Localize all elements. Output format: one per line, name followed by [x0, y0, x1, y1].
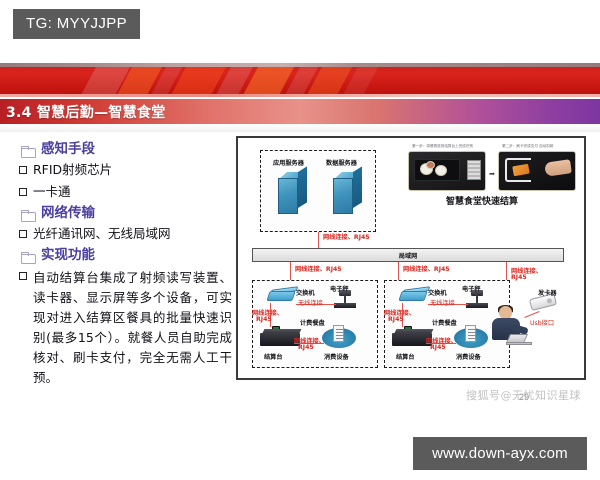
slide-canvas: TG: MYYJJPP 3.4 智慧后勤—智慧食堂 感知手段 RFID射频芯片 …	[0, 0, 600, 480]
wireless-label-1: 无线连接	[298, 298, 323, 307]
consumption-device-icon	[322, 328, 356, 348]
square-bullet-icon	[19, 230, 27, 238]
photo-tray-settlement	[408, 151, 486, 191]
link-label-server: 网线连接、RJ45	[323, 232, 370, 241]
outline-heading-perception: 感知手段	[18, 142, 232, 157]
outline-item-label: RFID射频芯片	[33, 162, 112, 178]
folder-icon	[21, 252, 34, 262]
photo-step2-caption: 第二步：刷卡完成支付 自动扣款	[502, 144, 553, 149]
square-bullet-icon	[19, 188, 27, 196]
operator-with-laptop-icon	[488, 306, 532, 350]
link-line	[398, 262, 399, 280]
link-label-zone2: 网线连接、RJ45	[403, 264, 450, 273]
usb-link-label: Usb接口	[530, 318, 554, 327]
footer-url-label: www.down-ayx.com	[432, 445, 568, 462]
bowl-icon	[435, 165, 447, 176]
scale-label-2: 电子秤	[462, 284, 481, 293]
title-underlay	[0, 124, 600, 132]
folder-icon	[21, 146, 34, 156]
link-label-counter1-b: RJ45	[256, 316, 272, 323]
switch-label-2: 交换机	[428, 288, 447, 297]
slide-page-number: 29	[519, 392, 529, 402]
outline-column: 感知手段 RFID射频芯片 一卡通 网络传输 光纤通讯网、无线局域网 实现功能 …	[18, 140, 232, 394]
electronic-scale-icon	[334, 290, 356, 312]
architecture-diagram-panel: 应用服务器 数据服务器 第一步：将餐具放到结算台上完成识别 第二步：刷卡完成支付…	[236, 136, 586, 380]
square-bullet-icon	[19, 272, 27, 280]
link-label-device2-b: RJ45	[430, 344, 446, 351]
server-cube-icon	[278, 172, 308, 217]
photo-card-swipe	[498, 151, 576, 191]
arrow-icon: ➡	[489, 170, 495, 178]
link-line	[318, 232, 319, 248]
switch-label-1: 交换机	[296, 288, 315, 297]
link-line	[290, 262, 291, 280]
electronic-scale-icon	[466, 290, 488, 312]
scale-label-1: 电子秤	[330, 284, 349, 293]
outline-item-label: 一卡通	[33, 184, 71, 200]
outline-heading-label: 实现功能	[41, 248, 95, 263]
hand-icon	[544, 159, 572, 176]
link-label-zone1: 网线连接、RJ45	[295, 264, 342, 273]
square-bullet-icon	[19, 166, 27, 174]
reader-panel	[467, 160, 481, 180]
lan-label: 局域网	[399, 251, 418, 260]
folder-icon	[21, 210, 34, 220]
outline-heading-network: 网络传输	[18, 206, 232, 221]
outline-paragraph-settlement: 自动结算台集成了射频读写装置、读卡器、显示屏等多个设备，可实现对进入结算区餐具的…	[18, 268, 232, 388]
slide-title-bar: 3.4 智慧后勤—智慧食堂	[0, 99, 600, 124]
photo-caption: 智慧食堂快速结算	[446, 194, 518, 207]
bowl-icon	[426, 161, 435, 169]
decorative-banner	[0, 63, 600, 97]
tray-label-2: 计费餐盘	[432, 318, 457, 327]
outline-heading-functions: 实现功能	[18, 248, 232, 263]
switch-icon	[398, 288, 428, 303]
outline-heading-label: 网络传输	[41, 206, 95, 221]
tray-label-1: 计费餐盘	[300, 318, 325, 327]
outline-paragraph-text: 自动结算台集成了射频读写装置、读卡器、显示屏等多个设备，可实现对进入结算区餐具的…	[33, 268, 232, 388]
outline-item-card: 一卡通	[18, 184, 232, 200]
footer-url-box: www.down-ayx.com	[413, 437, 587, 470]
outline-item-rfid: RFID射频芯片	[18, 162, 232, 178]
photo-step1-caption: 第一步：将餐具放到结算台上完成识别	[412, 144, 473, 149]
tg-tag-label: TG: MYYJJPP	[13, 9, 140, 39]
outline-item-fiber: 光纤通讯网、无线局域网	[18, 226, 232, 242]
banner-bottom-line	[0, 94, 600, 97]
app-server-label: 应用服务器	[273, 158, 304, 167]
outline-item-label: 光纤通讯网、无线局域网	[33, 226, 171, 242]
card-issuer-label: 发卡器	[538, 288, 557, 297]
link-label-issuer-2: RJ45	[511, 274, 527, 281]
server-cube-icon	[333, 172, 363, 217]
consumption-device-icon	[454, 328, 488, 348]
lan-backbone-bar: 局域网	[252, 248, 564, 262]
photo-strip: 第一步：将餐具放到结算台上完成识别 第二步：刷卡完成支付 自动扣款 ➡ 智慧食堂…	[406, 144, 578, 206]
link-label-device1-b: RJ45	[298, 344, 314, 351]
page-title: 3.4 智慧后勤—智慧食堂	[0, 102, 166, 122]
link-label-counter2-b: RJ45	[388, 316, 404, 323]
device-label-2: 消费设备	[456, 352, 481, 361]
wireless-label-2: 无线连接	[430, 298, 455, 307]
device-label-1: 消费设备	[324, 352, 349, 361]
switch-icon	[266, 288, 296, 303]
counter-label-1: 结算台	[264, 352, 283, 361]
outline-heading-label: 感知手段	[41, 142, 95, 157]
data-server-label: 数据服务器	[326, 158, 357, 167]
counter-label-2: 结算台	[396, 352, 415, 361]
